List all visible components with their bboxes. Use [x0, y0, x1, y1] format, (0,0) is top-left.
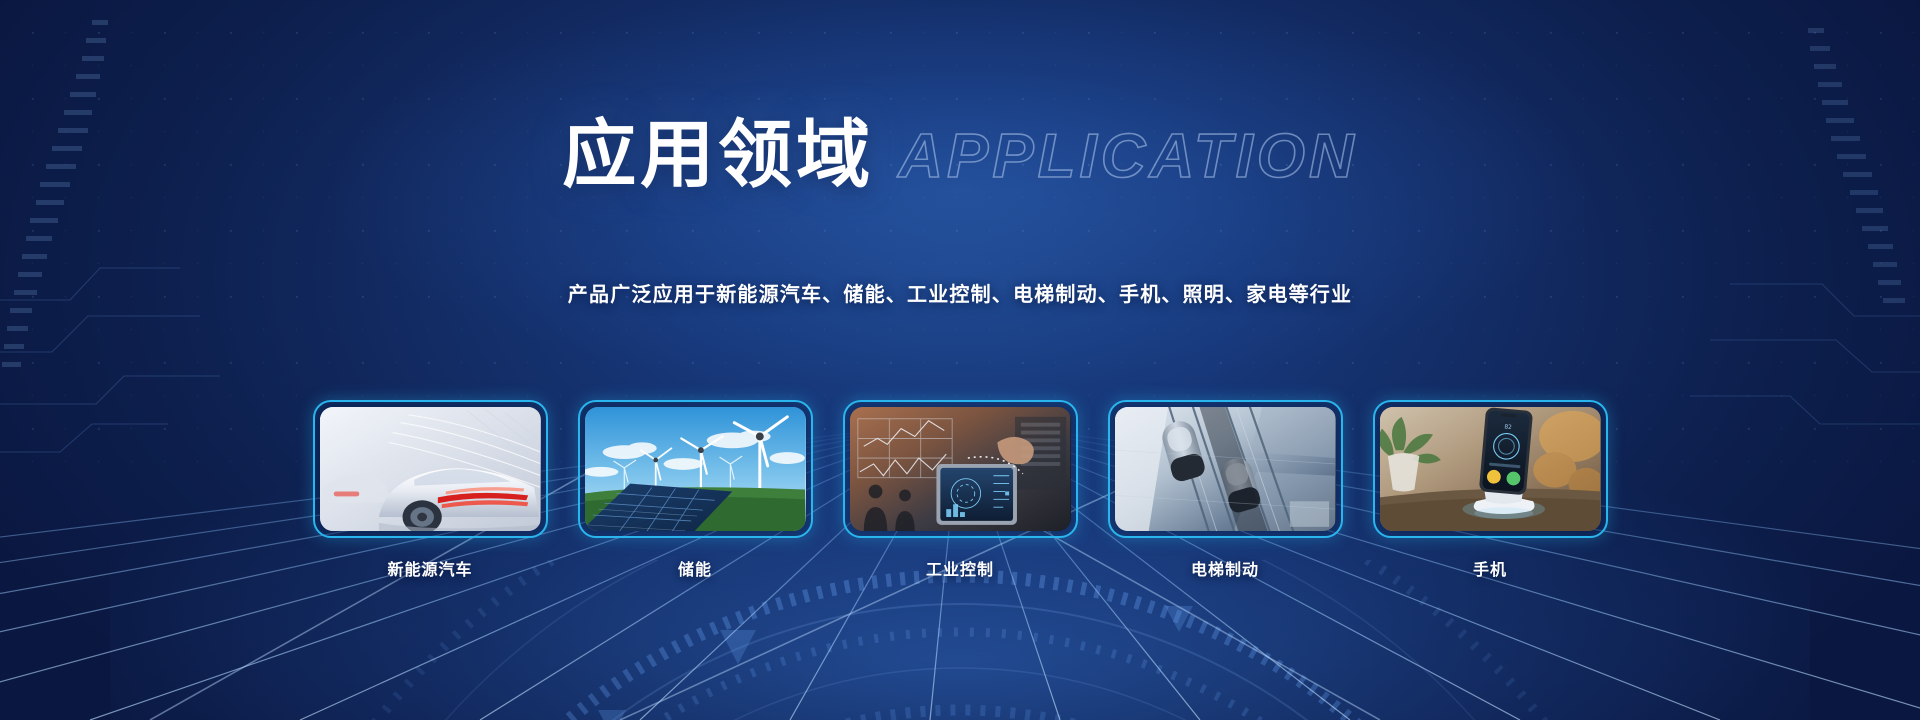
page-title-en: APPLICATION [898, 126, 1358, 188]
card-label: 电梯制动 [1191, 556, 1259, 580]
page-subtitle: 产品广泛应用于新能源汽车、储能、工业控制、电梯制动、手机、照明、家电等行业 [0, 278, 1920, 307]
svg-text:82: 82 [1504, 424, 1512, 431]
application-card[interactable]: 电梯制动 [1108, 400, 1343, 580]
application-card[interactable]: 新能源汽车 [313, 400, 548, 580]
application-card-list: 新能源汽车 [0, 400, 1920, 580]
card-frame[interactable] [578, 400, 813, 538]
card-label: 手机 [1473, 556, 1507, 580]
card-label: 新能源汽车 [387, 556, 472, 580]
page-title-cn: 应用领域 [562, 118, 874, 192]
phone-wireless-charger-photo: 82 [1380, 407, 1601, 531]
application-banner: 应用领域 APPLICATION 产品广泛应用于新能源汽车、储能、工业控制、电梯… [0, 0, 1920, 720]
card-frame[interactable] [313, 400, 548, 538]
application-card[interactable]: 82 手机 [1373, 400, 1608, 580]
card-frame[interactable] [843, 400, 1078, 538]
card-frame[interactable] [1108, 400, 1343, 538]
card-label: 工业控制 [926, 556, 994, 580]
elevator-shaft-photo [1115, 407, 1336, 531]
industrial-control-tablet-photo [850, 407, 1071, 531]
ev-sports-car-photo [320, 407, 541, 531]
card-frame[interactable]: 82 [1373, 400, 1608, 538]
page-title: 应用领域 APPLICATION [0, 118, 1920, 192]
card-label: 储能 [678, 556, 712, 580]
application-card[interactable]: 工业控制 [843, 400, 1078, 580]
solar-wind-farm-photo [585, 407, 806, 531]
application-card[interactable]: 储能 [578, 400, 813, 580]
